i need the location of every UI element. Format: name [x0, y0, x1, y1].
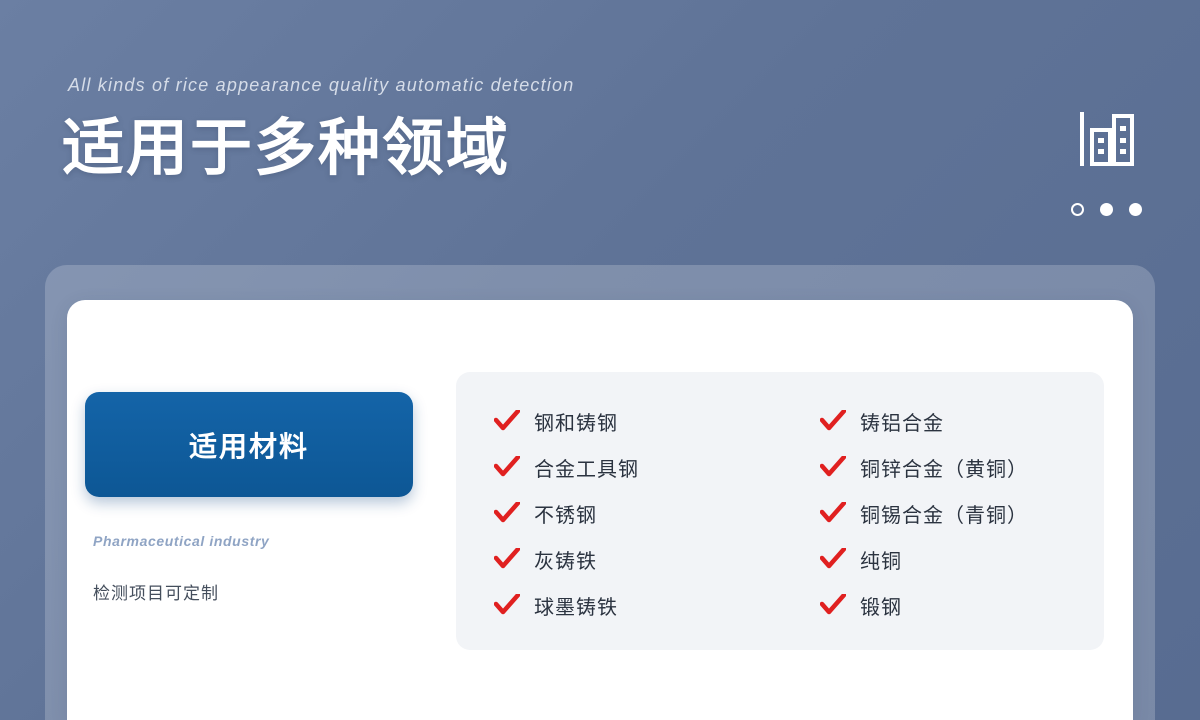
- check-icon: [820, 410, 846, 432]
- list-item: 纯铜: [820, 536, 1104, 582]
- pager-dot-3[interactable]: [1129, 203, 1142, 216]
- page-header: All kinds of rice appearance quality aut…: [0, 0, 1200, 265]
- material-label: 球墨铸铁: [534, 591, 618, 620]
- check-icon: [820, 456, 846, 478]
- material-label: 不锈钢: [534, 499, 597, 528]
- list-item: 球墨铸铁: [494, 582, 778, 628]
- header-eyebrow: All kinds of rice appearance quality aut…: [68, 75, 574, 96]
- list-item: 铜锌合金（黄铜）: [820, 444, 1104, 490]
- left-column: 适用材料 Pharmaceutical industry 检测项目可定制: [85, 392, 415, 604]
- check-icon: [494, 410, 520, 432]
- check-icon: [820, 594, 846, 616]
- list-item: 钢和铸钢: [494, 398, 778, 444]
- material-label: 灰铸铁: [534, 545, 597, 574]
- materials-panel: 钢和铸钢 合金工具钢 不锈钢 灰铸铁 球墨铸铁: [456, 372, 1104, 650]
- check-icon: [494, 502, 520, 524]
- check-icon: [494, 594, 520, 616]
- list-item: 不锈钢: [494, 490, 778, 536]
- material-label: 锻钢: [860, 591, 902, 620]
- list-item: 铜锡合金（青铜）: [820, 490, 1104, 536]
- pager-dot-1[interactable]: [1071, 203, 1084, 216]
- materials-column-1: 钢和铸钢 合金工具钢 不锈钢 灰铸铁 球墨铸铁: [456, 398, 778, 628]
- material-label: 纯铜: [860, 545, 902, 574]
- applicable-materials-button[interactable]: 适用材料: [85, 392, 413, 497]
- material-label: 铜锌合金（黄铜）: [860, 453, 1028, 482]
- building-icon: [1076, 108, 1138, 170]
- customizable-note: 检测项目可定制: [93, 579, 415, 604]
- pager-dot-2[interactable]: [1100, 203, 1113, 216]
- material-label: 铸铝合金: [860, 407, 944, 436]
- material-label: 合金工具钢: [534, 453, 639, 482]
- list-item: 灰铸铁: [494, 536, 778, 582]
- list-item: 合金工具钢: [494, 444, 778, 490]
- check-icon: [820, 502, 846, 524]
- material-label: 铜锡合金（青铜）: [860, 499, 1028, 528]
- page-title: 适用于多种领域: [62, 113, 510, 184]
- list-item: 锻钢: [820, 582, 1104, 628]
- check-icon: [494, 548, 520, 570]
- list-item: 铸铝合金: [820, 398, 1104, 444]
- materials-column-2: 铸铝合金 铜锌合金（黄铜） 铜锡合金（青铜） 纯铜 锻钢: [778, 398, 1104, 628]
- carousel-pager[interactable]: [1071, 203, 1142, 216]
- industry-subtitle-en: Pharmaceutical industry: [93, 533, 415, 549]
- check-icon: [494, 456, 520, 478]
- check-icon: [820, 548, 846, 570]
- material-label: 钢和铸钢: [534, 407, 618, 436]
